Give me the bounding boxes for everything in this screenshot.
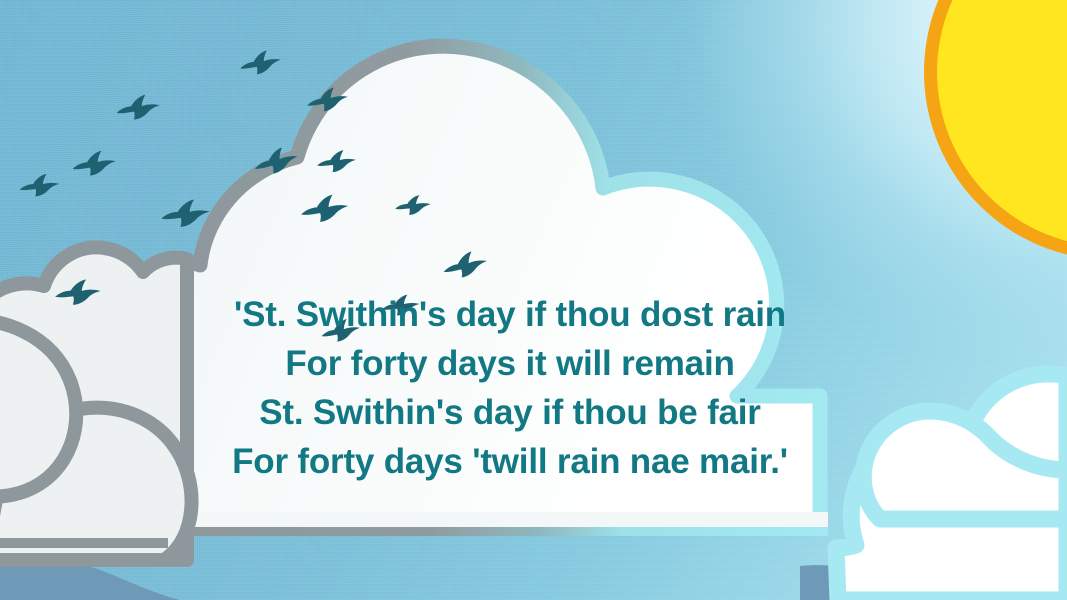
bird-3 <box>18 173 60 198</box>
left-foreground-cloud <box>0 247 192 560</box>
bird-4 <box>71 149 117 178</box>
bird-5 <box>160 198 211 229</box>
illustration-scene: 'St. Swithin's day if thou dost rain For… <box>0 0 1067 600</box>
scene-artwork <box>0 0 1067 600</box>
main-cloud-base <box>146 512 828 536</box>
bird-2 <box>238 48 283 77</box>
bird-1 <box>115 93 161 122</box>
